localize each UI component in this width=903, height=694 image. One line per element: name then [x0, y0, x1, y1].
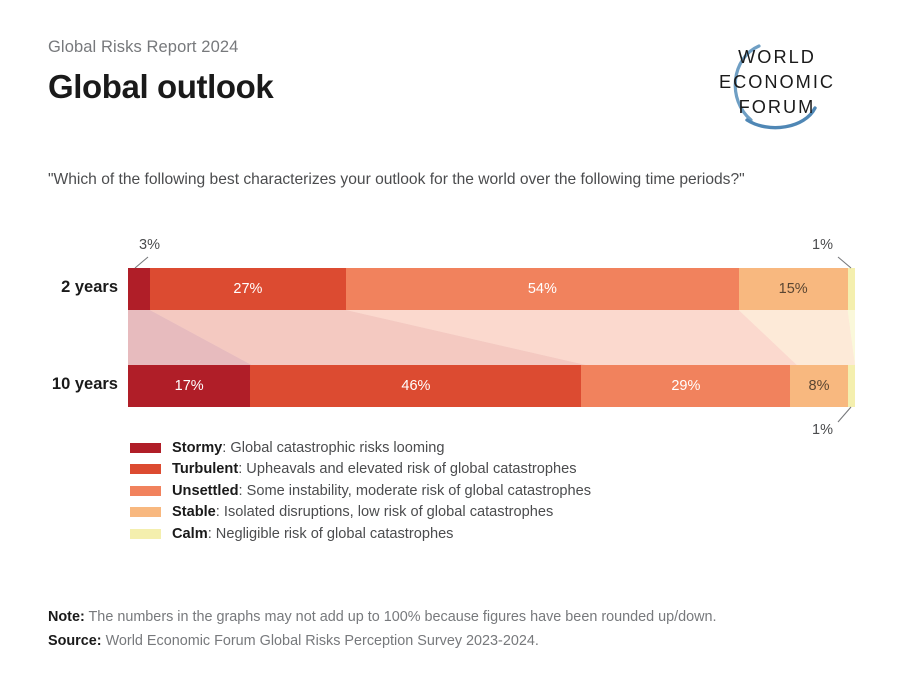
chart-page: Global Risks Report 2024 Global outlook …	[0, 0, 903, 694]
footer-note-key: Note:	[48, 609, 85, 625]
callout-2y-calm: 1%	[812, 237, 833, 253]
segment-10y-turbulent[interactable]: 46%	[250, 365, 581, 407]
chart-legend: Stormy : Global catastrophic risks loomi…	[130, 437, 830, 545]
legend-swatch-stormy	[130, 443, 161, 453]
segment-10y-unsettled[interactable]: 29%	[581, 365, 790, 407]
footer-source-key: Source:	[48, 633, 102, 649]
legend-swatch-stable	[130, 507, 161, 517]
category-label-2-years: 2 years	[44, 278, 118, 297]
legend-item-turbulent[interactable]: Turbulent : Upheavals and elevated risk …	[130, 459, 830, 481]
ribbon-stable	[739, 310, 855, 365]
footer-note-text: The numbers in the graphs may not add up…	[85, 609, 717, 625]
leader-line-10y-calm	[838, 407, 851, 422]
wef-logo: WORLD ECONOMIC FORUM	[697, 36, 857, 134]
bar-10-years: 17% 46% 29% 8% 1%	[128, 365, 855, 407]
legend-label-stable: Stable	[172, 504, 216, 520]
ribbon-turbulent	[150, 310, 586, 365]
legend-item-calm[interactable]: Calm : Negligible risk of global catastr…	[130, 523, 830, 545]
ribbon-stormy	[128, 310, 252, 365]
footer-source: Source: World Economic Forum Global Risk…	[48, 629, 868, 653]
leader-line-2y-stormy	[135, 257, 148, 268]
legend-label-turbulent: Turbulent	[172, 461, 238, 477]
segment-2y-stable[interactable]: 15%	[739, 268, 848, 310]
survey-question: "Which of the following best characteriz…	[48, 170, 878, 190]
segment-2y-stormy[interactable]: 3%	[128, 268, 150, 310]
footer-note: Note: The numbers in the graphs may not …	[48, 605, 868, 629]
ribbon-unsettled	[346, 310, 797, 365]
legend-item-stable[interactable]: Stable : Isolated disruptions, low risk …	[130, 502, 830, 524]
legend-desc-calm: : Negligible risk of global catastrophes	[208, 526, 454, 542]
legend-label-stormy: Stormy	[172, 440, 222, 456]
segment-2y-calm[interactable]: 1%	[848, 268, 855, 310]
legend-swatch-unsettled	[130, 486, 161, 496]
flow-ribbons	[128, 232, 855, 447]
category-label-10-years: 10 years	[36, 375, 118, 394]
plot-area: 3% 27% 54% 15% 1% 17% 46% 29% 8% 1%	[128, 232, 855, 447]
segment-2y-turbulent[interactable]: 27%	[150, 268, 346, 310]
stacked-bar-chart: 2 years 10 years 3% 27% 54% 15% 1% 17%	[0, 232, 903, 447]
footer-source-text: World Economic Forum Global Risks Percep…	[102, 633, 539, 649]
legend-item-stormy[interactable]: Stormy : Global catastrophic risks loomi…	[130, 437, 830, 459]
callout-leader-lines	[0, 232, 903, 447]
segment-10y-stable[interactable]: 8%	[790, 365, 848, 407]
bar-2-years: 3% 27% 54% 15% 1%	[128, 268, 855, 310]
ribbon-calm	[848, 310, 855, 365]
logo-word-forum: FORUM	[739, 97, 816, 117]
segment-2y-unsettled[interactable]: 54%	[346, 268, 739, 310]
legend-desc-stormy: : Global catastrophic risks looming	[222, 440, 444, 456]
legend-swatch-turbulent	[130, 464, 161, 474]
callout-2y-stormy: 3%	[139, 237, 160, 253]
legend-item-unsettled[interactable]: Unsettled : Some instability, moderate r…	[130, 480, 830, 502]
legend-label-unsettled: Unsettled	[172, 483, 239, 499]
wef-logo-svg: WORLD ECONOMIC FORUM	[697, 36, 857, 134]
segment-10y-calm[interactable]: 1%	[848, 365, 855, 407]
legend-desc-turbulent: : Upheavals and elevated risk of global …	[238, 461, 576, 477]
legend-label-calm: Calm	[172, 526, 208, 542]
callout-10y-calm: 1%	[812, 422, 833, 438]
leader-line-2y-calm	[838, 257, 851, 268]
logo-word-economic: ECONOMIC	[719, 72, 835, 92]
legend-swatch-calm	[130, 529, 161, 539]
logo-word-world: WORLD	[738, 47, 816, 67]
segment-10y-stormy[interactable]: 17%	[128, 365, 250, 407]
chart-footer: Note: The numbers in the graphs may not …	[48, 605, 868, 653]
legend-desc-unsettled: : Some instability, moderate risk of glo…	[239, 483, 592, 499]
legend-desc-stable: : Isolated disruptions, low risk of glob…	[216, 504, 553, 520]
